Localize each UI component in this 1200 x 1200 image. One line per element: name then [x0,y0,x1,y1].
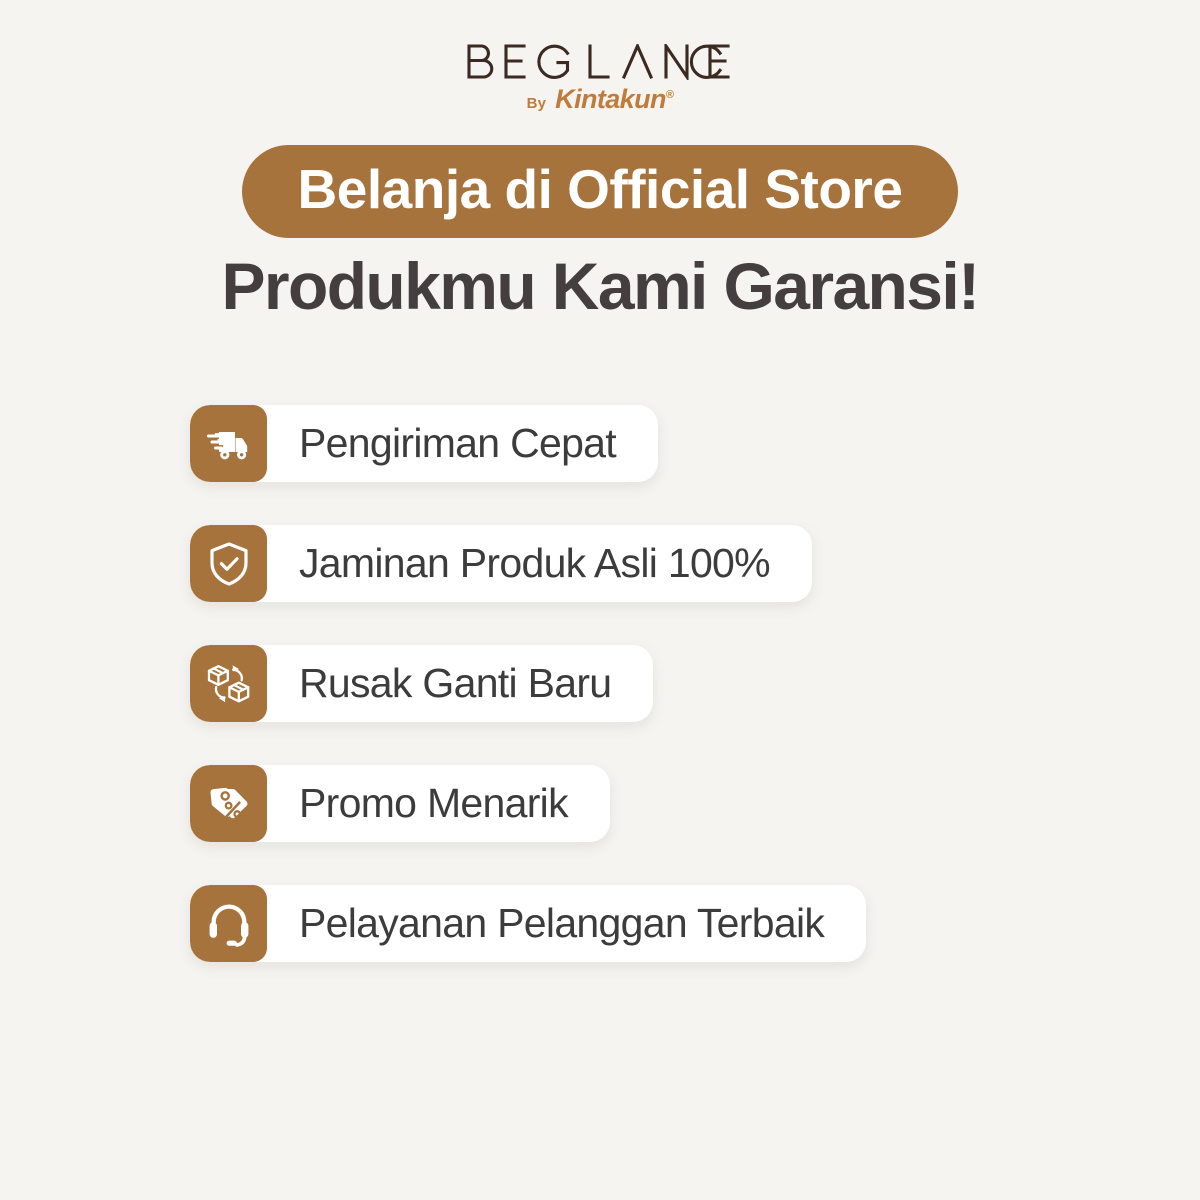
brand-logo: By Kintakun® [0,44,1200,115]
beglance-wordmark [466,44,734,80]
discount-tag-icon [190,765,267,842]
list-item[interactable]: Promo Menarik [190,765,610,842]
list-item[interactable]: Rusak Ganti Baru [190,645,653,722]
shield-check-icon [190,525,267,602]
brand-parent-label: Kintakun® [555,84,673,115]
official-store-banner: Belanja di Official Store [242,145,959,238]
headset-icon [190,885,267,962]
box-exchange-icon [190,645,267,722]
feature-list: Pengiriman Cepat Jaminan Produk Asli 100… [190,405,866,962]
delivery-truck-icon [190,405,267,482]
list-item-label: Jaminan Produk Asli 100% [267,525,812,602]
list-item-label: Pengiriman Cepat [267,405,658,482]
brand-by-label: By [527,95,547,112]
list-item-label: Rusak Ganti Baru [267,645,653,722]
list-item-label: Promo Menarik [267,765,610,842]
list-item[interactable]: Pengiriman Cepat [190,405,658,482]
list-item-label: Pelayanan Pelanggan Terbaik [267,885,866,962]
brand-subline: By Kintakun® [0,84,1200,115]
list-item[interactable]: Jaminan Produk Asli 100% [190,525,812,602]
page-title: Produkmu Kami Garansi! [0,253,1200,319]
list-item[interactable]: Pelayanan Pelanggan Terbaik [190,885,866,962]
registered-mark-icon: ® [666,89,674,101]
banner-container: Belanja di Official Store [0,145,1200,238]
